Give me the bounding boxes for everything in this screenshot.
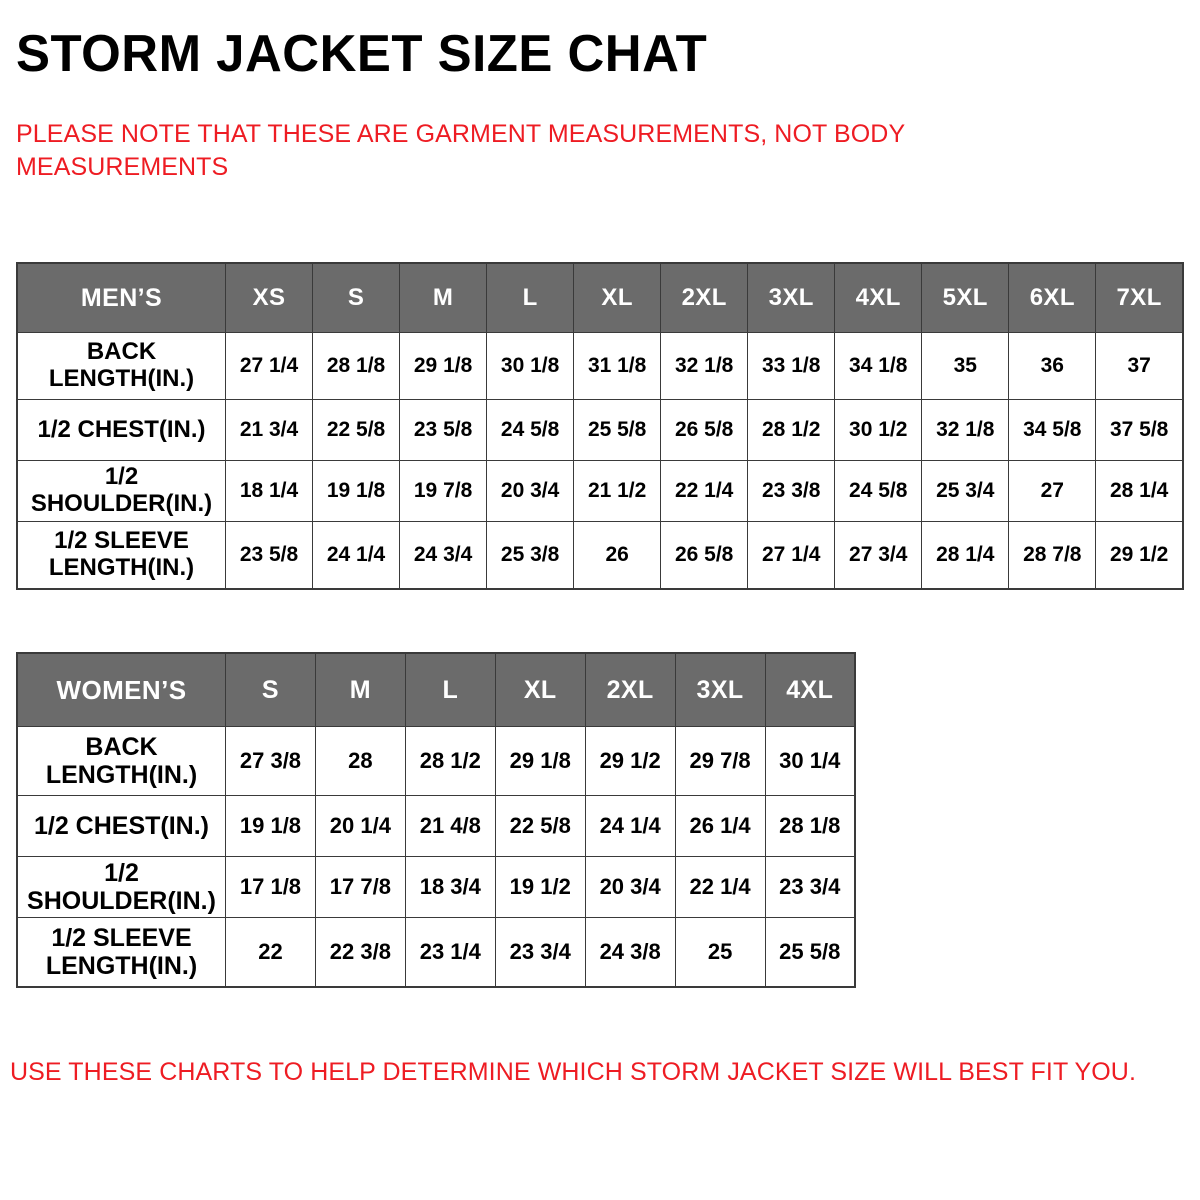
measurement-cell: 37 5/8	[1096, 400, 1183, 461]
mens-size-header-xl: XL	[574, 263, 661, 333]
mens-row-label: BACK LENGTH(IN.)	[17, 333, 226, 400]
measurement-cell: 24 5/8	[835, 461, 922, 522]
measurement-cell: 28 1/2	[405, 727, 495, 796]
measurement-cell: 28 1/8	[765, 796, 855, 857]
measurement-cell: 19 1/2	[495, 857, 585, 918]
measurement-cell: 19 1/8	[313, 461, 400, 522]
mens-corner-label: MEN’S	[17, 263, 226, 333]
measurement-cell: 29 1/2	[585, 727, 675, 796]
measurement-cell: 19 7/8	[400, 461, 487, 522]
womens-size-header-l: L	[405, 653, 495, 727]
size-chart-page: STORM JACKET SIZE CHAT PLEASE NOTE THAT …	[0, 0, 1200, 1200]
womens-size-header-s: S	[226, 653, 316, 727]
measurement-cell: 24 1/4	[585, 796, 675, 857]
mens-table-header: MEN’SXSSMLXL2XL3XL4XL5XL6XL7XL	[17, 263, 1183, 333]
measurement-cell: 33 1/8	[748, 333, 835, 400]
measurement-cell: 21 3/4	[226, 400, 313, 461]
measurement-cell: 20 3/4	[487, 461, 574, 522]
measurement-cell: 24 3/4	[400, 522, 487, 590]
measurement-cell: 22 3/8	[315, 918, 405, 988]
mens-header-row: MEN’SXSSMLXL2XL3XL4XL5XL6XL7XL	[17, 263, 1183, 333]
mens-size-header-5xl: 5XL	[922, 263, 1009, 333]
table-row: 1/2 SHOULDER(IN.)17 1/817 7/818 3/419 1/…	[17, 857, 855, 918]
measurement-cell: 29 1/8	[400, 333, 487, 400]
womens-size-header-m: M	[315, 653, 405, 727]
table-row: 1/2 SHOULDER(IN.)18 1/419 1/819 7/820 3/…	[17, 461, 1183, 522]
womens-header-row: WOMEN’SSMLXL2XL3XL4XL	[17, 653, 855, 727]
measurement-cell: 17 1/8	[226, 857, 316, 918]
measurement-cell: 25 3/8	[487, 522, 574, 590]
mens-size-header-3xl: 3XL	[748, 263, 835, 333]
measurement-cell: 27 3/4	[835, 522, 922, 590]
measurement-cell: 26 1/4	[675, 796, 765, 857]
table-row: 1/2 SLEEVE LENGTH(IN.)2222 3/823 1/423 3…	[17, 918, 855, 988]
womens-size-header-4xl: 4XL	[765, 653, 855, 727]
mens-size-header-s: S	[313, 263, 400, 333]
mens-table-body: BACK LENGTH(IN.)27 1/428 1/829 1/830 1/8…	[17, 333, 1183, 590]
measurement-cell: 22	[226, 918, 316, 988]
measurement-cell: 24 5/8	[487, 400, 574, 461]
mens-size-header-xs: XS	[226, 263, 313, 333]
measurement-cell: 26	[574, 522, 661, 590]
measurement-cell: 35	[922, 333, 1009, 400]
fit-help-note: USE THESE CHARTS TO HELP DETERMINE WHICH…	[10, 1058, 1150, 1087]
mens-size-header-l: L	[487, 263, 574, 333]
mens-size-header-7xl: 7XL	[1096, 263, 1183, 333]
womens-row-label: 1/2 SHOULDER(IN.)	[17, 857, 226, 918]
measurement-cell: 31 1/8	[574, 333, 661, 400]
measurement-cell: 27	[1009, 461, 1096, 522]
measurement-cell: 28 1/4	[922, 522, 1009, 590]
measurement-cell: 28 7/8	[1009, 522, 1096, 590]
womens-size-header-xl: XL	[495, 653, 585, 727]
measurement-cell: 22 5/8	[313, 400, 400, 461]
measurement-cell: 30 1/8	[487, 333, 574, 400]
measurement-cell: 20 3/4	[585, 857, 675, 918]
measurement-cell: 19 1/8	[226, 796, 316, 857]
measurement-cell: 25 5/8	[574, 400, 661, 461]
table-row: 1/2 CHEST(IN.)19 1/820 1/421 4/822 5/824…	[17, 796, 855, 857]
measurement-cell: 25	[675, 918, 765, 988]
measurement-cell: 18 3/4	[405, 857, 495, 918]
mens-size-table: MEN’SXSSMLXL2XL3XL4XL5XL6XL7XL BACK LENG…	[16, 262, 1184, 590]
measurement-cell: 24 3/8	[585, 918, 675, 988]
measurement-cell: 26 5/8	[661, 400, 748, 461]
womens-size-header-3xl: 3XL	[675, 653, 765, 727]
measurement-cell: 23 5/8	[226, 522, 313, 590]
womens-size-header-2xl: 2XL	[585, 653, 675, 727]
measurement-cell: 34 5/8	[1009, 400, 1096, 461]
measurement-cell: 32 1/8	[661, 333, 748, 400]
mens-row-label: 1/2 SHOULDER(IN.)	[17, 461, 226, 522]
measurement-cell: 36	[1009, 333, 1096, 400]
measurement-cell: 28	[315, 727, 405, 796]
measurement-cell: 32 1/8	[922, 400, 1009, 461]
womens-corner-label: WOMEN’S	[17, 653, 226, 727]
measurement-cell: 25 5/8	[765, 918, 855, 988]
womens-table-header: WOMEN’SSMLXL2XL3XL4XL	[17, 653, 855, 727]
measurement-cell: 28 1/2	[748, 400, 835, 461]
measurement-cell: 27 3/8	[226, 727, 316, 796]
womens-size-table: WOMEN’SSMLXL2XL3XL4XL BACK LENGTH(IN.)27…	[16, 652, 856, 988]
measurement-cell: 18 1/4	[226, 461, 313, 522]
measurement-cell: 23 5/8	[400, 400, 487, 461]
measurement-cell: 25 3/4	[922, 461, 1009, 522]
measurement-cell: 22 5/8	[495, 796, 585, 857]
measurement-cell: 30 1/2	[835, 400, 922, 461]
measurement-cell: 17 7/8	[315, 857, 405, 918]
womens-row-label: 1/2 SLEEVE LENGTH(IN.)	[17, 918, 226, 988]
measurement-cell: 21 4/8	[405, 796, 495, 857]
measurement-cell: 37	[1096, 333, 1183, 400]
womens-table-body: BACK LENGTH(IN.)27 3/82828 1/229 1/829 1…	[17, 727, 855, 988]
mens-row-label: 1/2 SLEEVE LENGTH(IN.)	[17, 522, 226, 590]
measurement-cell: 27 1/4	[226, 333, 313, 400]
mens-row-label: 1/2 CHEST(IN.)	[17, 400, 226, 461]
measurement-cell: 23 3/4	[765, 857, 855, 918]
measurement-cell: 30 1/4	[765, 727, 855, 796]
mens-size-header-6xl: 6XL	[1009, 263, 1096, 333]
page-title: STORM JACKET SIZE CHAT	[16, 24, 707, 84]
measurement-cell: 29 7/8	[675, 727, 765, 796]
table-row: BACK LENGTH(IN.)27 3/82828 1/229 1/829 1…	[17, 727, 855, 796]
mens-size-header-4xl: 4XL	[835, 263, 922, 333]
measurement-cell: 29 1/8	[495, 727, 585, 796]
measurement-cell: 21 1/2	[574, 461, 661, 522]
womens-row-label: BACK LENGTH(IN.)	[17, 727, 226, 796]
womens-row-label: 1/2 CHEST(IN.)	[17, 796, 226, 857]
measurement-cell: 34 1/8	[835, 333, 922, 400]
measurement-cell: 28 1/4	[1096, 461, 1183, 522]
table-row: 1/2 CHEST(IN.)21 3/422 5/823 5/824 5/825…	[17, 400, 1183, 461]
mens-size-header-m: M	[400, 263, 487, 333]
measurement-cell: 27 1/4	[748, 522, 835, 590]
measurement-cell: 22 1/4	[661, 461, 748, 522]
measurement-cell: 24 1/4	[313, 522, 400, 590]
measurement-cell: 23 3/4	[495, 918, 585, 988]
measurement-cell: 26 5/8	[661, 522, 748, 590]
table-row: BACK LENGTH(IN.)27 1/428 1/829 1/830 1/8…	[17, 333, 1183, 400]
measurement-cell: 28 1/8	[313, 333, 400, 400]
measurement-cell: 23 1/4	[405, 918, 495, 988]
table-row: 1/2 SLEEVE LENGTH(IN.)23 5/824 1/424 3/4…	[17, 522, 1183, 590]
measurement-cell: 22 1/4	[675, 857, 765, 918]
measurement-cell: 20 1/4	[315, 796, 405, 857]
garment-measurement-note: PLEASE NOTE THAT THESE ARE GARMENT MEASU…	[16, 118, 976, 184]
measurement-cell: 23 3/8	[748, 461, 835, 522]
measurement-cell: 29 1/2	[1096, 522, 1183, 590]
mens-size-header-2xl: 2XL	[661, 263, 748, 333]
